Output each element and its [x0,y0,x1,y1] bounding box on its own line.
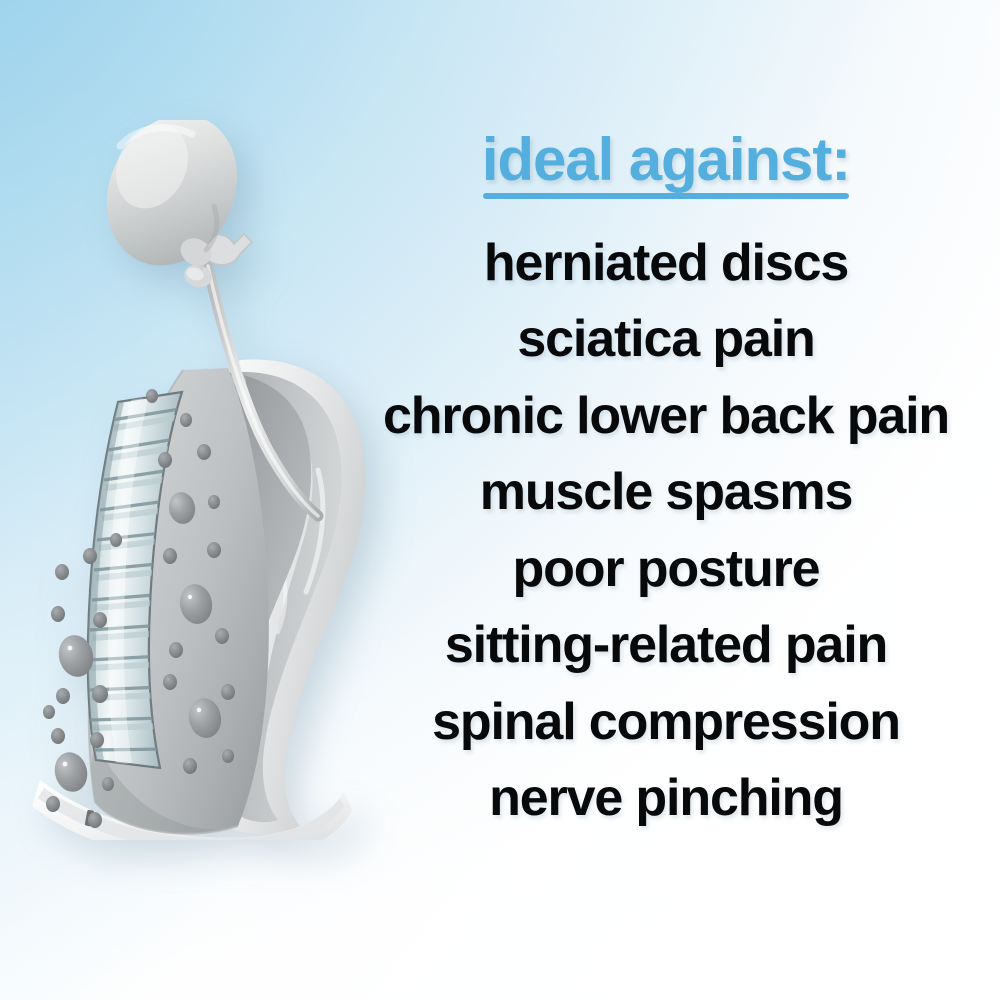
list-item: poor posture [513,531,820,607]
list-item: nerve pinching [489,760,843,836]
list-item: sciatica pain [517,301,814,377]
list-item: herniated discs [484,225,848,301]
list-item: chronic lower back pain [383,378,949,454]
page-title: ideal against: [482,130,850,190]
ailment-list: herniated discs sciatica pain chronic lo… [332,225,1000,837]
ailment-text-column: ideal against: herniated discs sciatica … [332,118,1000,1000]
headline-underline [483,193,849,199]
list-item: spinal compression [432,684,900,760]
list-item: muscle spasms [480,454,852,530]
headline-group: ideal against: [482,130,850,199]
list-item: sitting-related pain [445,607,887,683]
product-pump-bulb [83,120,261,287]
